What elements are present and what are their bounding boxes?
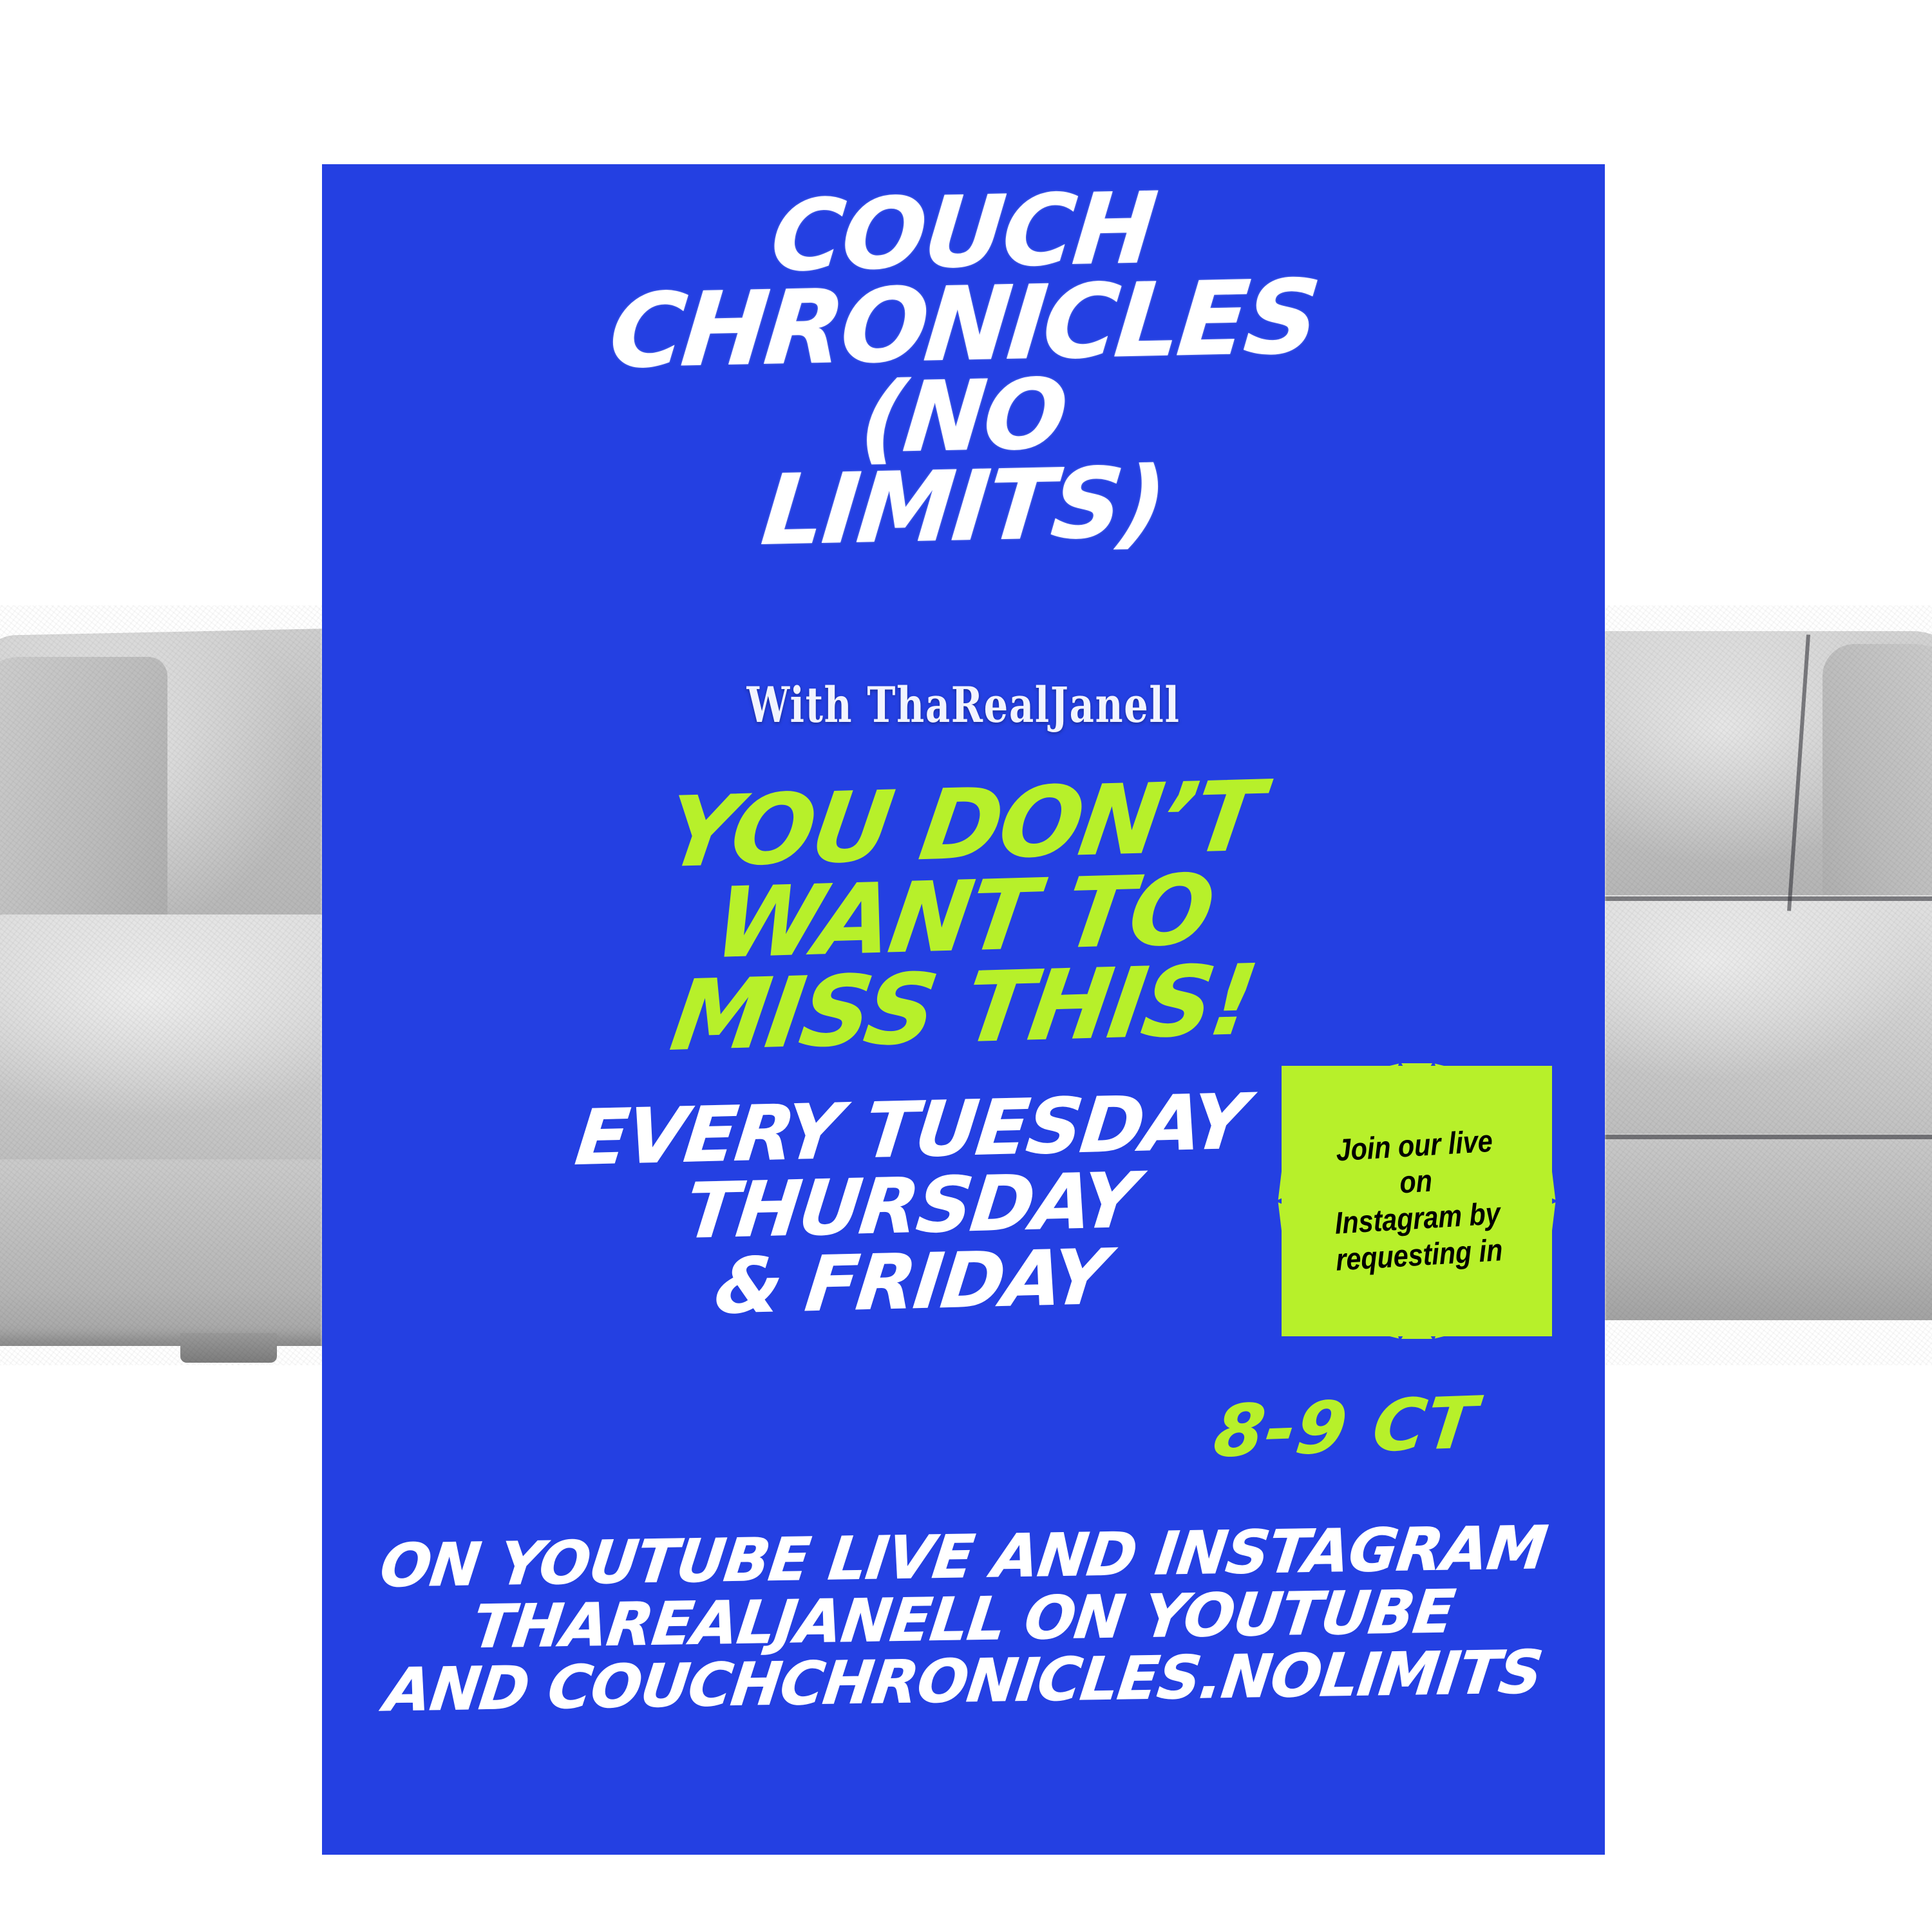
blue-flyer-panel: COUCH CHRONICLES (NO LIMITS) With ThaRea… bbox=[322, 164, 1605, 1855]
host-subtitle: With ThaRealJanell bbox=[463, 676, 1464, 734]
couch-left-armrest bbox=[0, 657, 167, 934]
couch-right-backrest bbox=[1558, 631, 1932, 908]
couch-right-armrest bbox=[1823, 644, 1932, 979]
promo-poster: COUCH CHRONICLES (NO LIMITS) With ThaRea… bbox=[0, 0, 1932, 1932]
show-title: COUCH CHRONICLES (NO LIMITS) bbox=[322, 187, 1605, 552]
broadcast-time: 8-9 CT bbox=[1109, 1386, 1583, 1468]
couch-seam bbox=[1787, 634, 1810, 911]
couch-seam bbox=[1565, 1135, 1932, 1139]
couch-right-base bbox=[1565, 1133, 1932, 1320]
call-to-action-headline: YOU DON’T WANT TO MISS THIS! bbox=[322, 779, 1605, 1055]
couch-seam bbox=[1565, 896, 1932, 901]
badge-text: Join our live on Instagram by requesting… bbox=[1294, 1059, 1539, 1343]
couch-left-leg bbox=[180, 1333, 277, 1363]
instagram-live-badge[interactable]: Join our live on Instagram by requesting… bbox=[1282, 1066, 1552, 1336]
channel-footer: ON YOUTUBE LIVE AND INSTAGRAM THAREALJAN… bbox=[322, 1526, 1605, 1713]
badge-line-1: Join our live on bbox=[1321, 1122, 1510, 1207]
couch-right-seat bbox=[1565, 895, 1932, 1159]
